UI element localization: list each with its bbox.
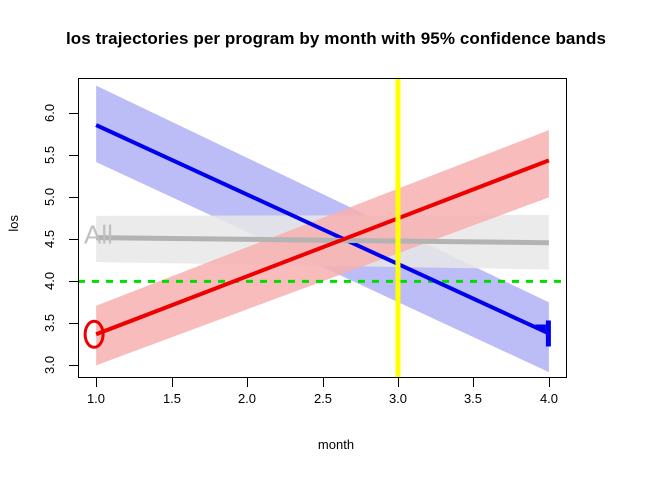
- x-tick-mark: [473, 378, 474, 387]
- y-tick-label: 5.5: [42, 137, 57, 173]
- x-tick-mark: [549, 378, 550, 387]
- y-tick-mark: [69, 323, 78, 324]
- y-axis-title: los: [6, 215, 21, 232]
- x-tick-mark: [172, 378, 173, 387]
- series-marker-blue-bar: [546, 320, 551, 346]
- y-tick-mark: [69, 281, 78, 282]
- chart-page: los trajectories per program by month wi…: [0, 0, 672, 480]
- y-tick-label: 3.0: [42, 347, 57, 383]
- x-tick-mark: [96, 378, 97, 387]
- x-tick-label: 1.5: [147, 391, 197, 406]
- y-tick-label: 3.5: [42, 305, 57, 341]
- x-tick-label: 1.0: [71, 391, 121, 406]
- y-tick-label: 6.0: [42, 95, 57, 131]
- y-tick-label: 4.5: [42, 221, 57, 257]
- y-tick-mark: [69, 113, 78, 114]
- x-tick-label: 3.0: [373, 391, 423, 406]
- series-label-gray: All: [84, 220, 113, 250]
- page-title: los trajectories per program by month wi…: [0, 29, 672, 49]
- y-tick-mark: [69, 155, 78, 156]
- y-tick-mark: [69, 239, 78, 240]
- y-tick-label: 5.0: [42, 179, 57, 215]
- y-tick-mark: [69, 197, 78, 198]
- x-tick-label: 4.0: [524, 391, 574, 406]
- chart-canvas: All: [78, 78, 567, 378]
- plot-area: All: [78, 78, 567, 378]
- x-tick-mark: [247, 378, 248, 387]
- x-tick-label: 2.0: [222, 391, 272, 406]
- y-tick-label: 4.0: [42, 263, 57, 299]
- y-tick-mark: [69, 365, 78, 366]
- x-tick-label: 3.5: [448, 391, 498, 406]
- x-tick-mark: [323, 378, 324, 387]
- x-tick-label: 2.5: [298, 391, 348, 406]
- x-tick-mark: [398, 378, 399, 387]
- x-axis-title: month: [0, 437, 672, 452]
